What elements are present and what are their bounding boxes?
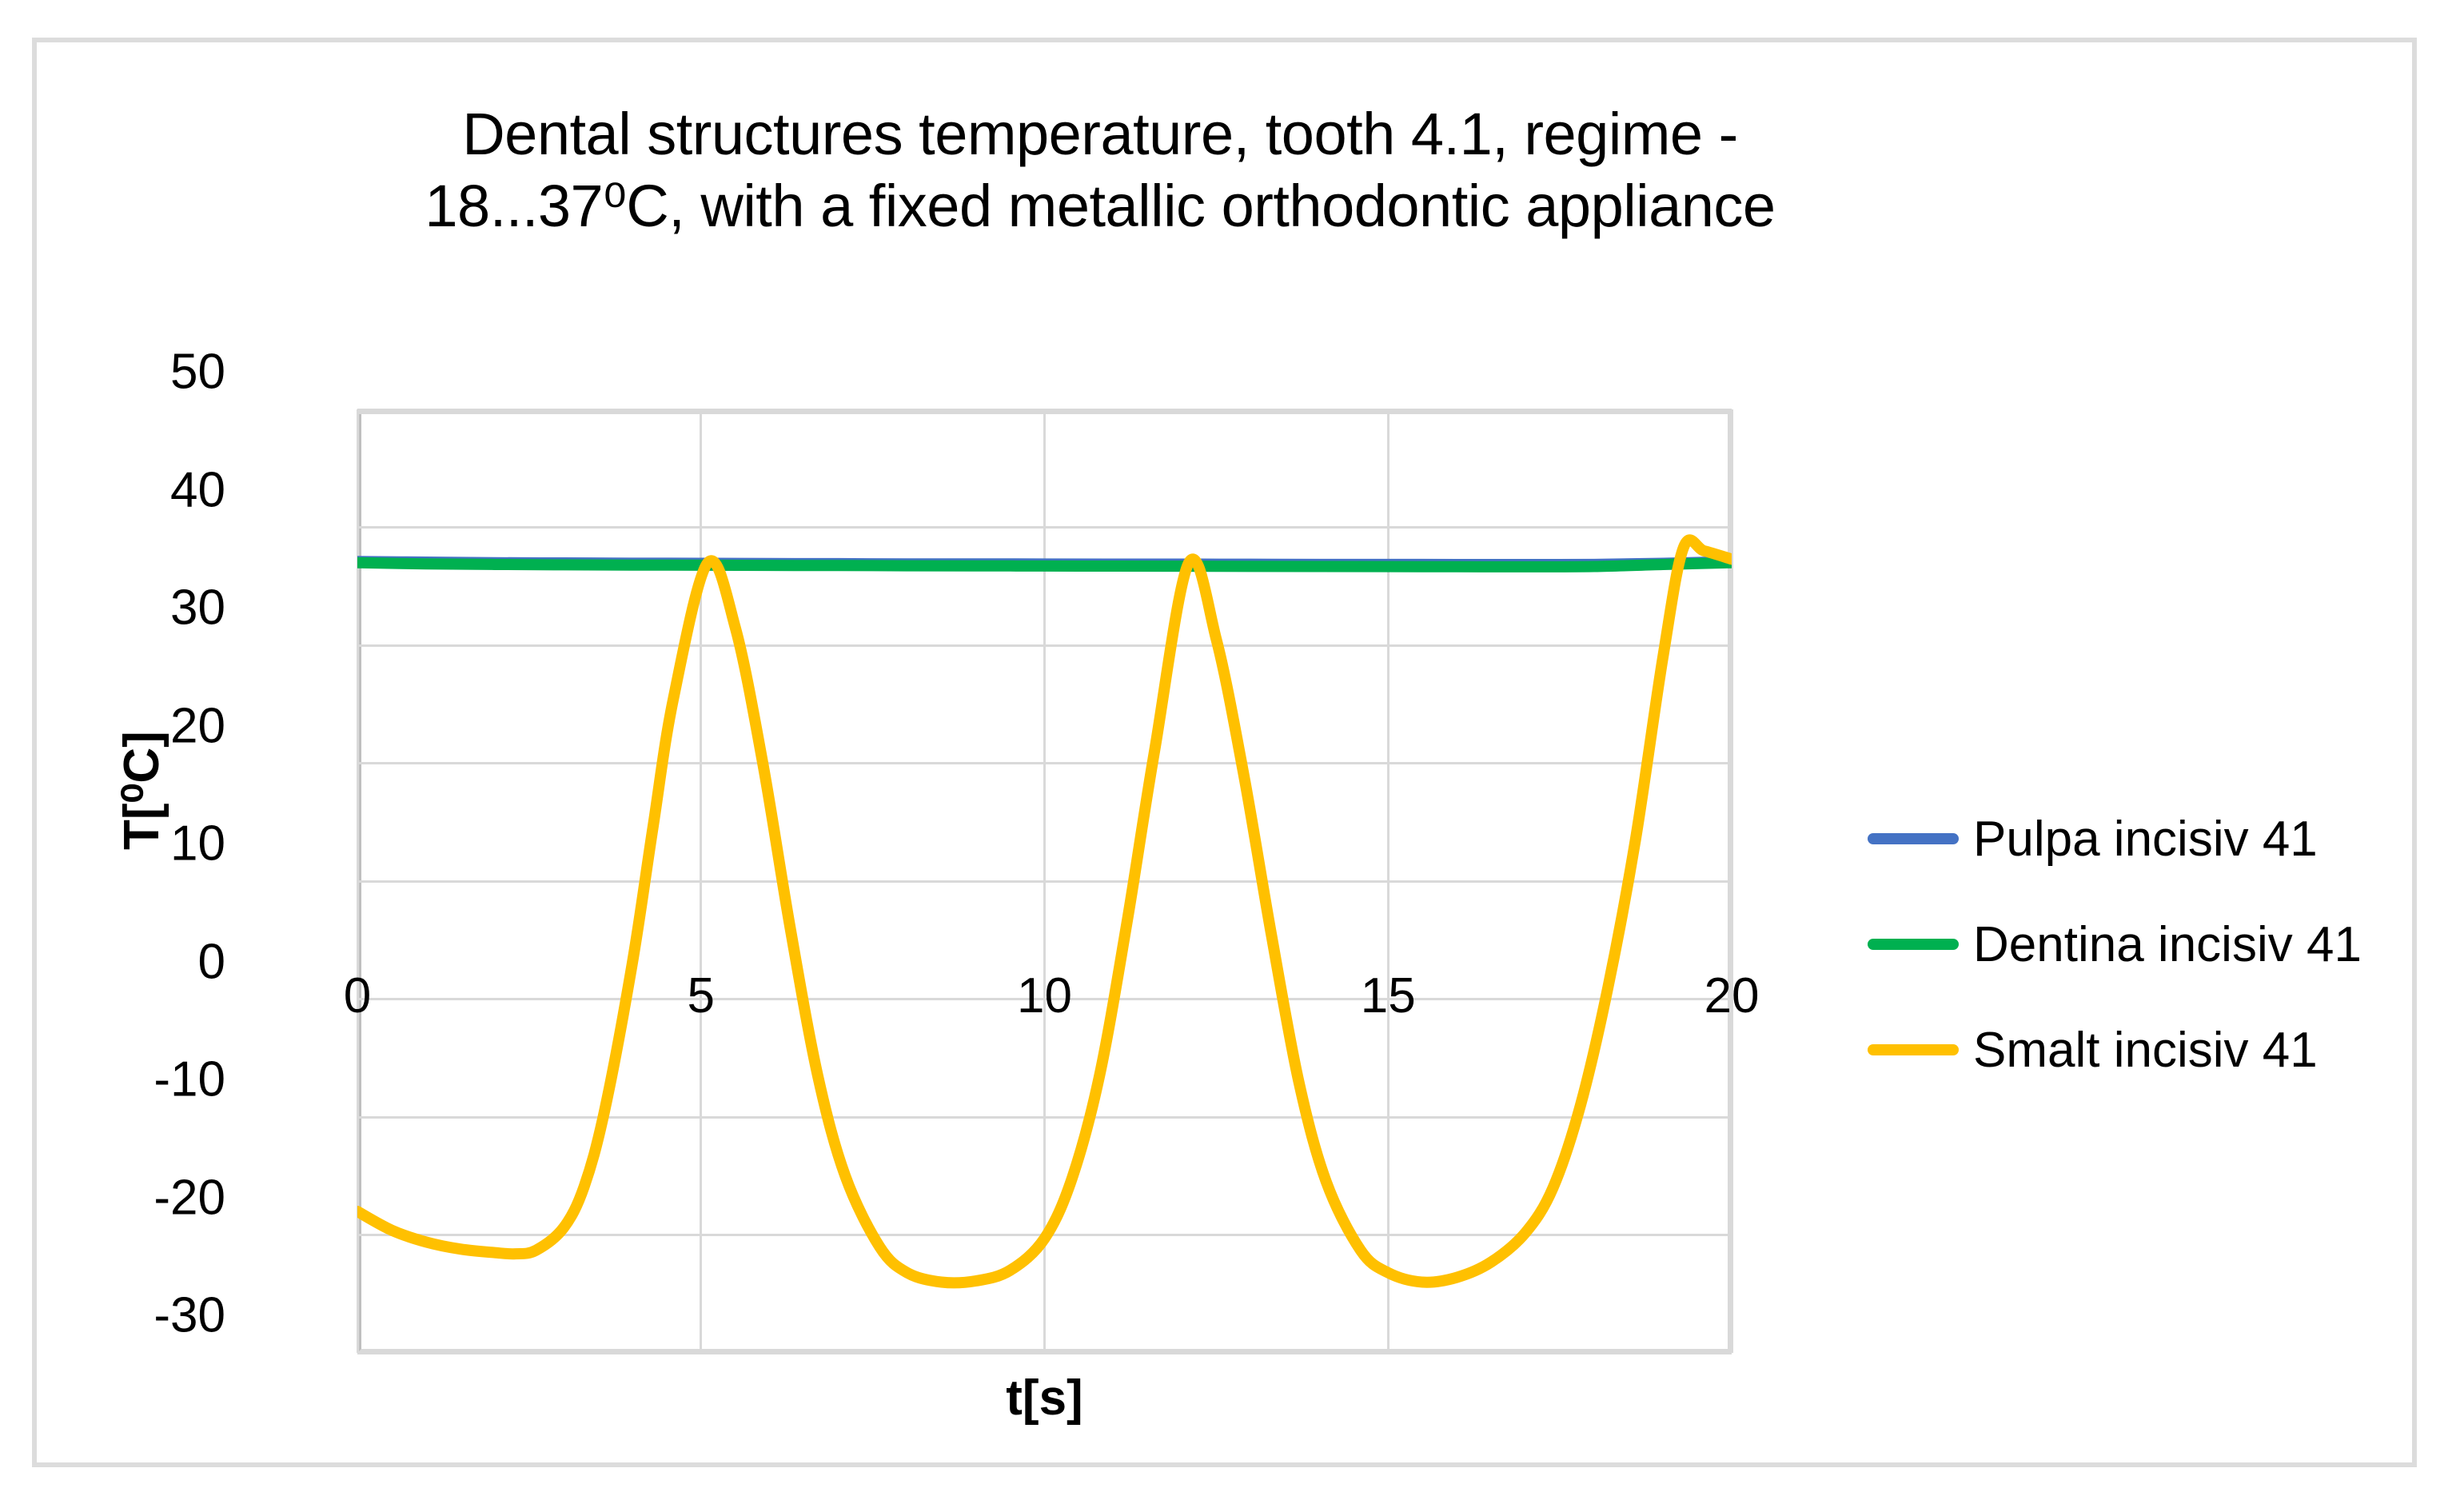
y-axis-tick-label: 40 — [66, 461, 225, 518]
chart-container: Dental structures temperature, tooth 4.1… — [32, 38, 2417, 1467]
plot-area — [357, 409, 1732, 1353]
x-axis-title: t[s] — [357, 1370, 1732, 1426]
legend-item[interactable]: Pulpa incisiv 41 — [1868, 786, 2362, 892]
legend-item-label: Dentina incisiv 41 — [1973, 916, 2362, 973]
legend-item[interactable]: Dentina incisiv 41 — [1868, 892, 2362, 997]
y-axis-tick-label: -10 — [66, 1051, 225, 1108]
legend-color-swatch — [1868, 833, 1959, 844]
legend-item-label: Pulpa incisiv 41 — [1973, 811, 2318, 868]
series-line — [357, 563, 1732, 567]
chart-title-line-1: Dental structures temperature, tooth 4.1… — [462, 101, 1738, 167]
y-axis-tick-label: 30 — [66, 580, 225, 636]
y-axis-tick-label: -20 — [66, 1169, 225, 1226]
x-axis-tick-label: 20 — [1704, 967, 1760, 1024]
x-axis-tick-label: 5 — [688, 967, 715, 1024]
x-axis-tick-label: 15 — [1361, 967, 1416, 1024]
chart-title-line-2: 18...37⁰C, with a fixed metallic orthodo… — [181, 170, 2019, 242]
y-axis-tick-label: 0 — [66, 933, 225, 990]
x-axis-tick-label: 10 — [1017, 967, 1072, 1024]
legend-item-label: Smalt incisiv 41 — [1973, 1022, 2318, 1079]
y-axis-tick-label: 10 — [66, 816, 225, 872]
series-lines — [357, 409, 1732, 1353]
legend-color-swatch — [1868, 939, 1959, 950]
legend-color-swatch — [1868, 1044, 1959, 1055]
series-line — [357, 540, 1732, 1283]
y-axis-tick-label: 50 — [66, 344, 225, 401]
chart-legend: Pulpa incisiv 41Dentina incisiv 41Smalt … — [1868, 786, 2362, 1103]
legend-item[interactable]: Smalt incisiv 41 — [1868, 997, 2362, 1103]
y-axis-tick-label: 20 — [66, 697, 225, 754]
x-axis-tick-label: 0 — [344, 967, 371, 1024]
y-axis-tick-label: -30 — [66, 1287, 225, 1344]
chart-title: Dental structures temperature, tooth 4.1… — [181, 98, 2019, 243]
